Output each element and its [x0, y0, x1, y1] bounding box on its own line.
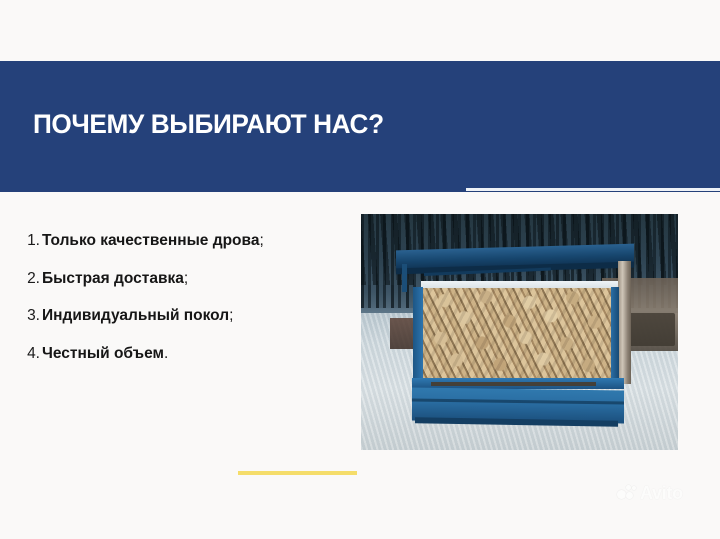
list-item-punctuation: ;: [259, 232, 263, 250]
avito-logo-icon: [617, 485, 637, 502]
list-item-number: 1.: [22, 232, 41, 250]
list-item: 1. Только качественные дрова ;: [0, 232, 350, 270]
list-item-label: Индивидуальный покол: [41, 307, 229, 325]
list-item: 2. Быстрая доставка ;: [0, 270, 350, 308]
photo-vehicle-shadow: [624, 313, 675, 346]
photo-trailer-wall-right: [611, 287, 619, 386]
photo-trailer-wall-left: [413, 287, 423, 386]
list-item-number: 3.: [22, 307, 41, 325]
list-item: 3. Индивидуальный покол ;: [0, 307, 350, 345]
photo-inner: [361, 214, 678, 450]
avito-watermark: Avito: [617, 484, 683, 502]
list-item-number: 4.: [22, 345, 41, 363]
header-banner: ПОЧЕМУ ВЫБИРАЮТ НАС?: [0, 61, 720, 192]
photo-birch-post: [618, 261, 631, 384]
benefits-list: 1. Только качественные дрова ; 2. Быстра…: [0, 232, 350, 382]
avito-wordmark: Avito: [640, 484, 683, 502]
accent-divider-bar: [238, 471, 357, 475]
list-item-label: Только качественные дрова: [41, 232, 259, 250]
list-item: 4. Честный объем .: [0, 345, 350, 383]
firewood-photo: [361, 214, 678, 450]
header-rule-divider: [466, 188, 720, 191]
photo-scrap-wood: [481, 426, 563, 445]
slide-canvas: ПОЧЕМУ ВЫБИРАЮТ НАС? 1. Только качествен…: [0, 0, 720, 539]
avito-dot-small: [626, 485, 631, 490]
list-item-punctuation: ;: [184, 270, 188, 288]
avito-dot-large: [617, 490, 626, 499]
photo-support-post-left: [402, 264, 407, 292]
avito-dot-medium: [626, 492, 633, 499]
list-item-label: Честный объем: [41, 345, 164, 363]
list-item-punctuation: .: [164, 345, 168, 363]
avito-dot-tiny: [632, 486, 636, 490]
photo-firewood-shading: [421, 288, 618, 378]
page-title: ПОЧЕМУ ВЫБИРАЮТ НАС?: [33, 111, 384, 138]
list-item-punctuation: ;: [229, 307, 233, 325]
list-item-label: Быстрая доставка: [41, 270, 184, 288]
photo-trailer-slot: [431, 382, 596, 387]
list-item-number: 2.: [22, 270, 41, 288]
